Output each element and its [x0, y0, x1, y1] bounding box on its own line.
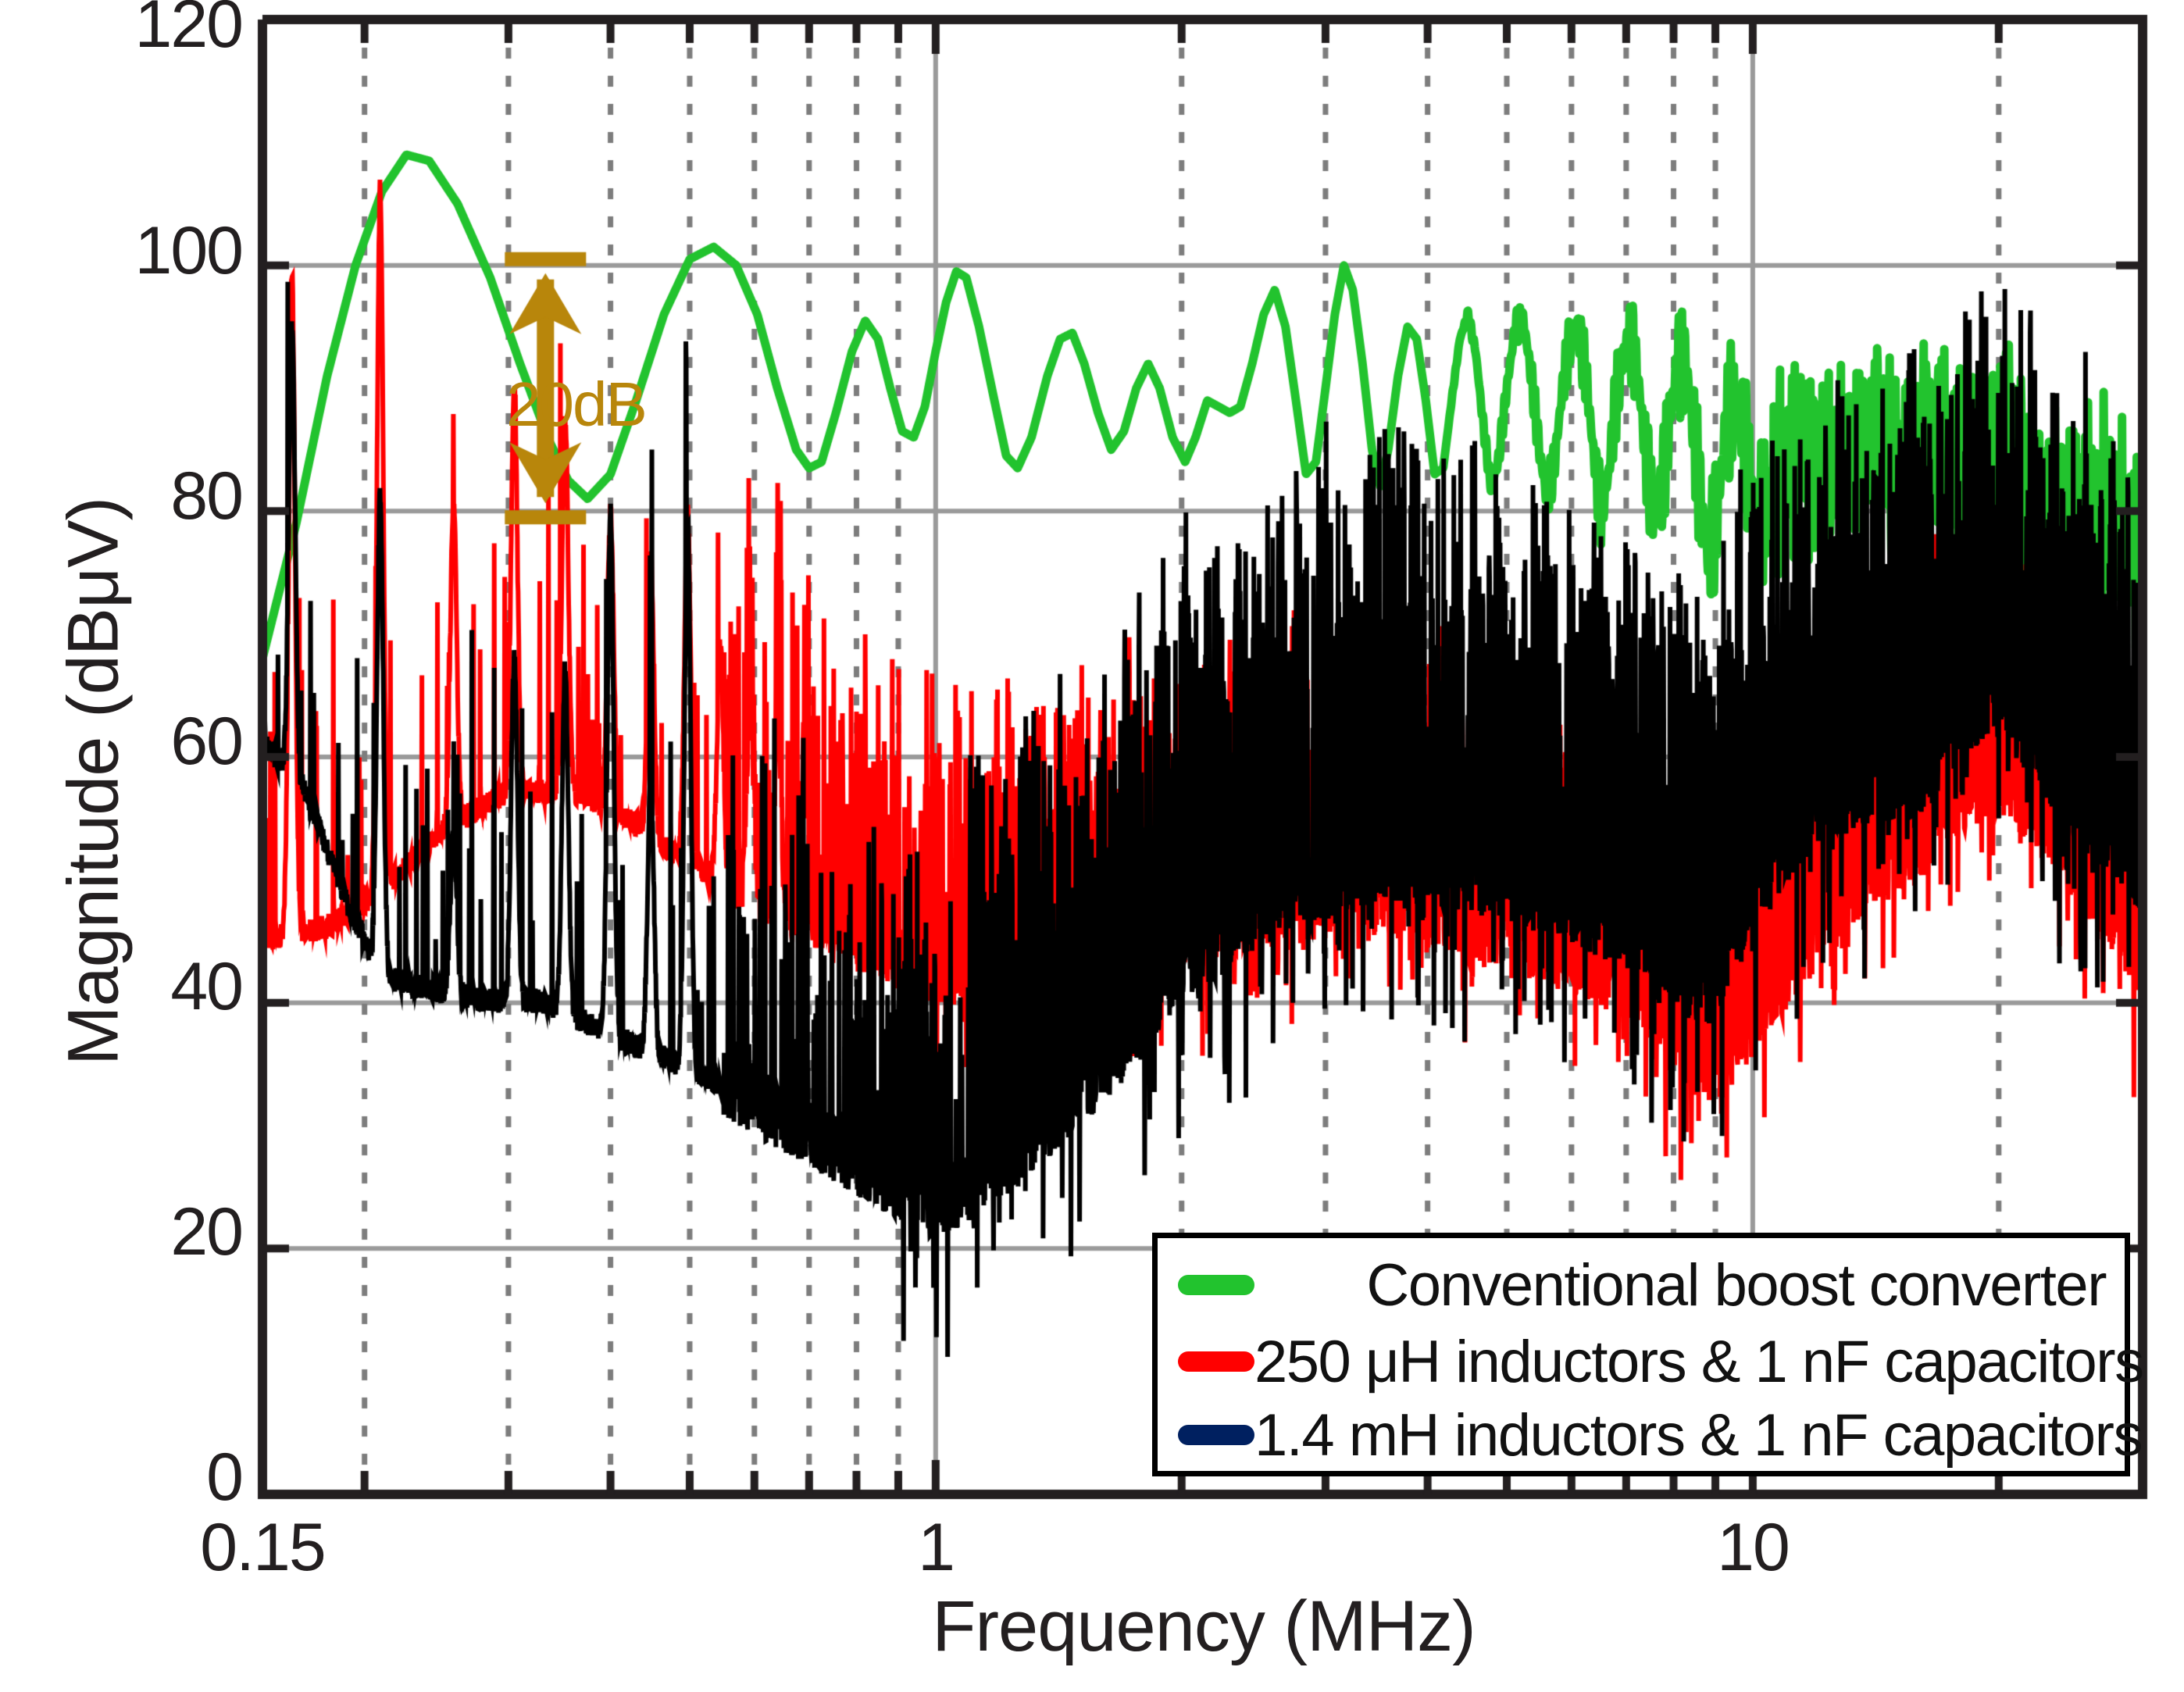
legend-swatch-red: [1178, 1351, 1254, 1372]
annotation-20db-label: 20dB: [506, 369, 646, 441]
x-axis-tick-10: 10: [1667, 1509, 1839, 1587]
figure-root: 120 100 80 60 40 20 0 0.15 1 10 Magnitud…: [0, 0, 2184, 1692]
x-axis-tick-1: 1: [858, 1509, 1014, 1587]
legend-label-conventional: Conventional boost converter: [1254, 1251, 2125, 1319]
y-axis-tick-100: 100: [16, 212, 242, 290]
legend-label-1p4mh: 1.4 mH inductors & 1 nF capacitors: [1254, 1401, 2161, 1469]
legend-label-250uh: 250 μH inductors & 1 nF capacitors: [1254, 1328, 2162, 1396]
y-axis-label: Magnitude (dBμV): [53, 430, 135, 1133]
x-axis-tick-0.15: 0.15: [153, 1509, 372, 1587]
y-axis-tick-20: 20: [16, 1194, 242, 1271]
legend: Conventional boost converter 250 μH indu…: [1152, 1233, 2130, 1476]
legend-swatch-green: [1178, 1275, 1254, 1295]
y-axis-tick-120: 120: [16, 0, 242, 63]
legend-item-conventional: Conventional boost converter: [1158, 1244, 2125, 1326]
legend-item-250uh: 250 μH inductors & 1 nF capacitors: [1158, 1321, 2125, 1402]
y-axis-tick-0: 0: [16, 1439, 242, 1516]
legend-swatch-navy: [1178, 1425, 1254, 1445]
legend-item-1p4mh: 1.4 mH inductors & 1 nF capacitors: [1158, 1394, 2125, 1476]
x-axis-label: Frequency (MHz): [262, 1586, 2145, 1668]
